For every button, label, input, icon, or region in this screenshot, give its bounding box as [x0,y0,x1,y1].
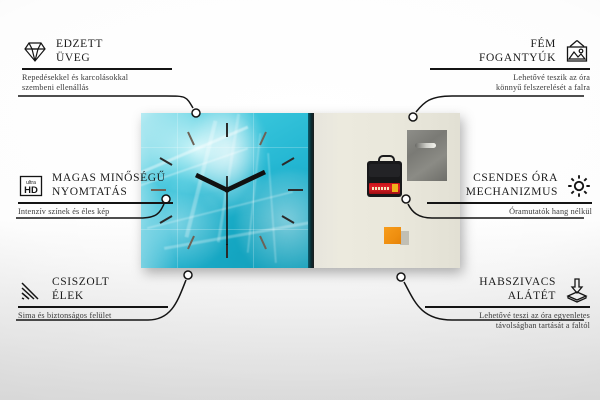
product-image [141,113,460,268]
divider [427,202,592,204]
leader-line-handles [416,96,584,112]
hanger-slot [415,143,436,148]
callout-title: CSENDES ÓRA MECHANIZMUS [466,172,558,199]
divider [425,306,590,308]
hour-hand [227,172,265,190]
foam-pad-shadow [400,231,409,245]
callout-quiet-mechanism[interactable]: CSENDES ÓRA MECHANIZMUS Óramutatók hang … [427,172,592,217]
callout-foam-pad[interactable]: HABSZIVACS ALÁTÉT Lehetővé teszi az óra … [425,276,590,332]
callout-title: EDZETT ÜVEG [56,38,103,65]
diagonal-lines-icon [18,277,44,303]
infographic-canvas: EDZETT ÜVEG Repedésekkel és karcolásokka… [0,0,600,400]
callout-tempered-glass[interactable]: EDZETT ÜVEG Repedésekkel és karcolásokka… [22,38,172,94]
callout-subtitle: Lehetővé teszi az óra egyenletes távolsá… [425,311,590,332]
callout-title: MAGAS MINŐSÉGŰ NYOMTATÁS [52,172,166,199]
clock-mechanism [367,161,402,197]
battery-label [372,187,390,190]
gear-icon [566,173,592,199]
callout-polished-edges[interactable]: CSISZOLT ÉLEK Sima és biztonságos felüle… [18,276,168,321]
arrow-down-pad-icon [564,277,590,303]
callout-subtitle: Repedésekkel és karcolásokkal szembeni e… [22,73,172,94]
callout-subtitle: Sima és biztonságos felület [18,311,168,322]
minute-hand [196,175,227,190]
callout-subtitle: Intenzív színek és éles kép [18,207,173,218]
diamond-icon [22,39,48,65]
divider [18,202,173,204]
picture-frame-icon [564,39,590,65]
divider [18,306,168,308]
divider [430,68,590,70]
ultra-hd-icon: ultra HD [18,173,44,199]
battery [369,183,400,194]
callout-metal-handles[interactable]: FÉM FOGANTYÚK Lehetővé teszik az óra kön… [430,38,590,94]
callout-subtitle: Lehetővé teszik az óra könnyű felszerelé… [430,73,590,94]
leader-line-tempered-glass [18,96,193,108]
callout-subtitle: Óramutatók hang nélkül [427,207,592,218]
callout-title: HABSZIVACS ALÁTÉT [479,276,556,303]
callout-title: FÉM FOGANTYÚK [479,38,556,65]
foam-pad [384,227,401,244]
callout-high-quality-print[interactable]: ultra HD MAGAS MINŐSÉGŰ NYOMTATÁS Intenz… [18,172,173,217]
mechanism-body [369,164,400,177]
anchor-dot-foam [397,273,405,281]
divider [22,68,172,70]
callout-title: CSISZOLT ÉLEK [52,276,109,303]
battery-positive-terminal [392,184,398,192]
hand-center [224,187,229,192]
svg-text:HD: HD [24,185,38,196]
anchor-dot-edges [184,271,192,279]
